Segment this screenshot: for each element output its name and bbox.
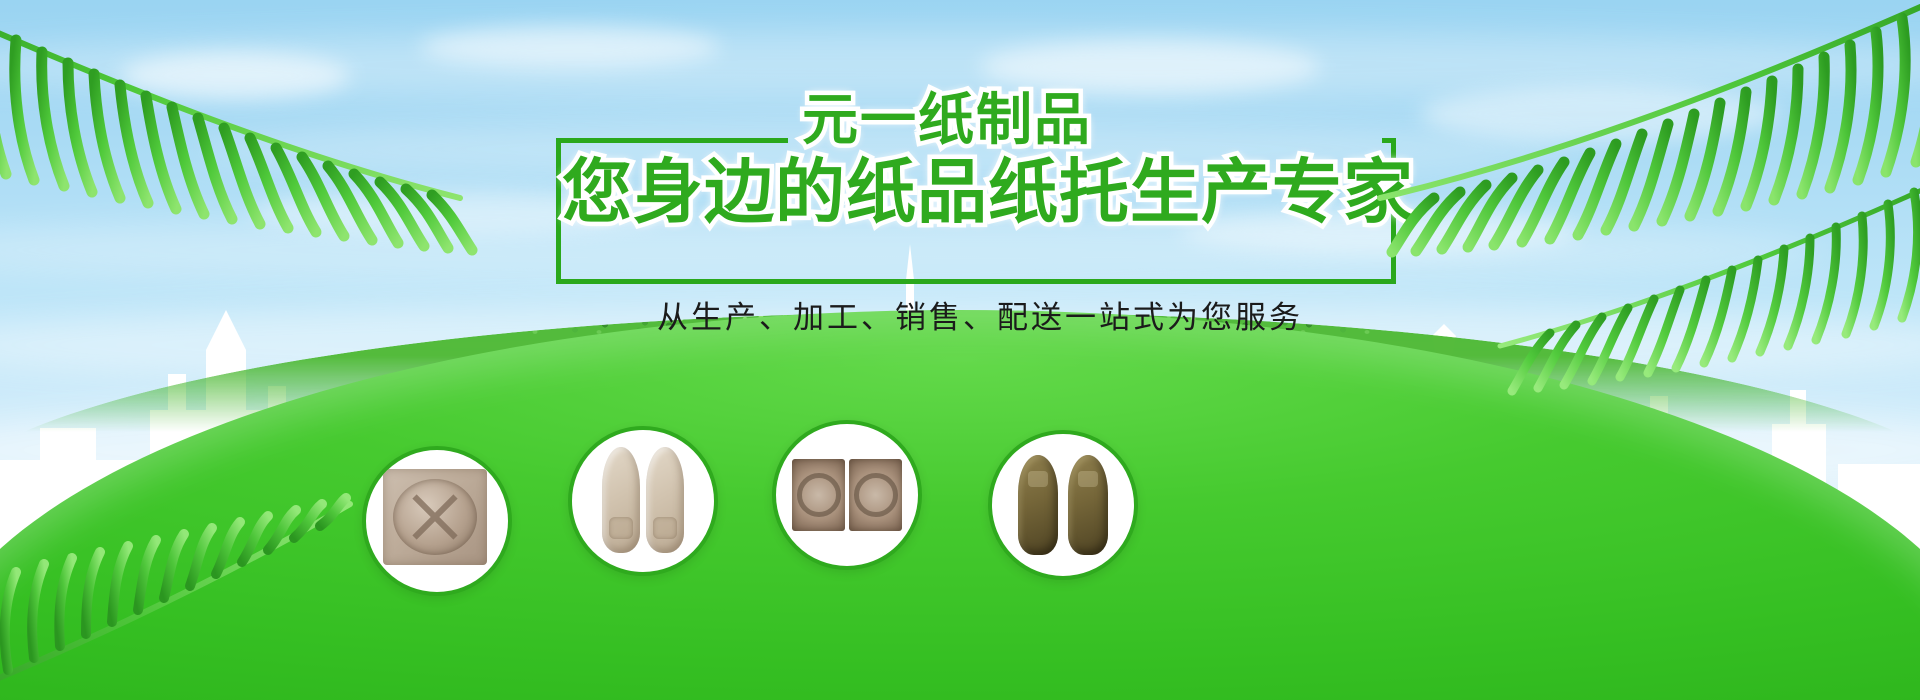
paper-pulp-insole-pair-icon: [600, 447, 686, 555]
headline-line-2: 您身边的纸品纸托生产专家: [562, 152, 1414, 232]
molded-pulp-twin-trays-icon: [792, 459, 902, 531]
frame-bottom-edge: [556, 279, 1396, 284]
cloud-puff: [420, 26, 720, 68]
hero-banner: 元一纸制品 您身边的纸品纸托生产专家 从生产、加工、销售、配送一站式为您服务 纸…: [0, 0, 1920, 700]
frame-top-edge: [556, 138, 788, 143]
banner-subtitle: 从生产、加工、销售、配送一站式为您服务: [600, 292, 1360, 337]
product-badge-dark-pulp-shoe-support[interactable]: 深色纸托鞋撑: [988, 430, 1138, 580]
molded-pulp-square-tray-icon: [383, 469, 491, 573]
frame-left-edge: [556, 138, 561, 284]
cloud-puff: [1420, 86, 1780, 142]
cloud-puff: [980, 40, 1320, 94]
headline-line-1: 元一纸制品: [802, 90, 1092, 152]
cloud-puff: [120, 52, 350, 100]
product-badge-molded-pulp-square-tray[interactable]: 纸托模塑托盘: [362, 446, 512, 596]
product-badge-molded-pulp-twin-trays[interactable]: 双联纸托: [772, 420, 922, 570]
product-badge-paper-pulp-insole-pair[interactable]: 纸浆鞋垫: [568, 426, 718, 576]
headline-block: 元一纸制品 您身边的纸品纸托生产专家: [556, 96, 1396, 276]
dark-pulp-shoe-support-icon: [1017, 453, 1109, 557]
frame-top-right-edge: [1382, 138, 1396, 143]
